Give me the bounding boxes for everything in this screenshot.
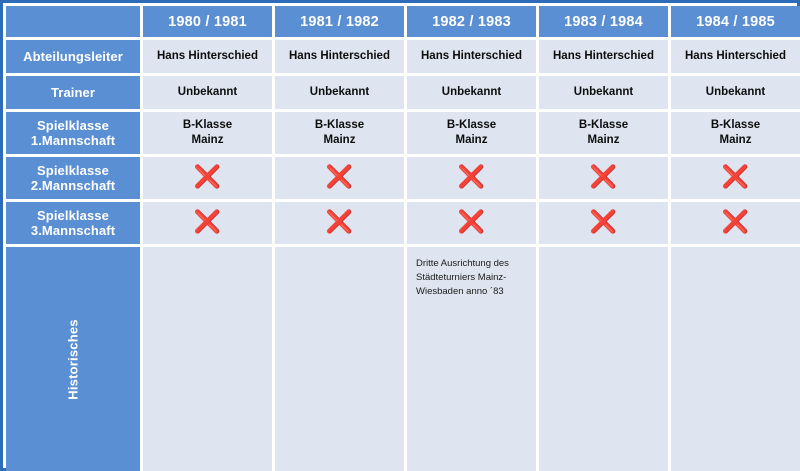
table-cell-spielklasse1-4: B-Klasse Mainz (539, 112, 668, 154)
cross-mark-icon: ❌ (326, 167, 353, 189)
row-header-line2: 2.Mannschaft (31, 178, 115, 193)
cell-line2: Mainz (315, 133, 364, 148)
cross-mark-icon: ❌ (590, 167, 617, 189)
table-cell-historisches-2 (275, 247, 404, 471)
row-header-line1: Spielklasse (31, 163, 115, 178)
table-cell-spielklasse3-5: ❌ (671, 202, 800, 244)
table-cell-spielklasse3-3: ❌ (407, 202, 536, 244)
table-cell-spielklasse2-5: ❌ (671, 157, 800, 199)
row-header-line2: 3.Mannschaft (31, 223, 115, 238)
cross-mark-icon: ❌ (194, 212, 221, 234)
table-cell-spielklasse2-1: ❌ (143, 157, 272, 199)
cross-mark-icon: ❌ (722, 212, 749, 234)
table-cell-spielklasse1-2: B-Klasse Mainz (275, 112, 404, 154)
cell-line2: Mainz (447, 133, 496, 148)
cell-line2: Mainz (711, 133, 760, 148)
table-cell-historisches-1 (143, 247, 272, 471)
column-header-season-5: 1984 / 1985 (671, 6, 800, 37)
cross-mark-icon: ❌ (326, 212, 353, 234)
cross-mark-icon: ❌ (590, 212, 617, 234)
table-cell-historisches-4 (539, 247, 668, 471)
table-cell-spielklasse1-3: B-Klasse Mainz (407, 112, 536, 154)
row-header-abteilungsleiter: Abteilungsleiter (6, 40, 140, 73)
table-cell-abteilungsleiter-2: Hans Hinterschied (275, 40, 404, 73)
table-cell-trainer-1: Unbekannt (143, 76, 272, 109)
table-cell-abteilungsleiter-3: Hans Hinterschied (407, 40, 536, 73)
cell-line1: B-Klasse (315, 118, 364, 133)
table-cell-trainer-3: Unbekannt (407, 76, 536, 109)
season-overview-table: 1980 / 1981 1981 / 1982 1982 / 1983 1983… (0, 0, 800, 471)
table-cell-spielklasse3-1: ❌ (143, 202, 272, 244)
cross-mark-icon: ❌ (458, 167, 485, 189)
history-note: Dritte Ausrichtung des Städteturniers Ma… (416, 257, 527, 298)
table-cell-trainer-5: Unbekannt (671, 76, 800, 109)
cell-line1: B-Klasse (579, 118, 628, 133)
historisches-label: Historisches (66, 319, 81, 399)
column-header-season-4: 1983 / 1984 (539, 6, 668, 37)
table-cell-abteilungsleiter-5: Hans Hinterschied (671, 40, 800, 73)
cross-mark-icon: ❌ (458, 212, 485, 234)
cell-line1: B-Klasse (447, 118, 496, 133)
table-grid: 1980 / 1981 1981 / 1982 1982 / 1983 1983… (6, 6, 800, 471)
cell-line1: B-Klasse (711, 118, 760, 133)
table-cell-abteilungsleiter-1: Hans Hinterschied (143, 40, 272, 73)
row-header-spielklasse-1-mannschaft: Spielklasse 1.Mannschaft (6, 112, 140, 154)
table-cell-trainer-4: Unbekannt (539, 76, 668, 109)
row-header-line2: 1.Mannschaft (31, 133, 115, 148)
table-cell-spielklasse1-1: B-Klasse Mainz (143, 112, 272, 154)
table-cell-historisches-5 (671, 247, 800, 471)
table-cell-spielklasse2-2: ❌ (275, 157, 404, 199)
column-header-season-3: 1982 / 1983 (407, 6, 536, 37)
row-header-line1: Spielklasse (31, 118, 115, 133)
table-corner-cell (6, 6, 140, 37)
table-cell-spielklasse3-2: ❌ (275, 202, 404, 244)
table-cell-abteilungsleiter-4: Hans Hinterschied (539, 40, 668, 73)
cell-line2: Mainz (579, 133, 628, 148)
row-header-spielklasse-2-mannschaft: Spielklasse 2.Mannschaft (6, 157, 140, 199)
cell-line2: Mainz (183, 133, 232, 148)
row-header-trainer: Trainer (6, 76, 140, 109)
table-cell-spielklasse2-4: ❌ (539, 157, 668, 199)
column-header-season-2: 1981 / 1982 (275, 6, 404, 37)
cross-mark-icon: ❌ (722, 167, 749, 189)
table-cell-spielklasse2-3: ❌ (407, 157, 536, 199)
column-header-season-1: 1980 / 1981 (143, 6, 272, 37)
table-cell-historisches-3: Dritte Ausrichtung des Städteturniers Ma… (407, 247, 536, 471)
table-cell-spielklasse1-5: B-Klasse Mainz (671, 112, 800, 154)
cell-line1: B-Klasse (183, 118, 232, 133)
cross-mark-icon: ❌ (194, 167, 221, 189)
table-cell-spielklasse3-4: ❌ (539, 202, 668, 244)
row-header-spielklasse-3-mannschaft: Spielklasse 3.Mannschaft (6, 202, 140, 244)
row-header-line1: Spielklasse (31, 208, 115, 223)
table-cell-trainer-2: Unbekannt (275, 76, 404, 109)
row-header-historisches: Historisches (6, 247, 140, 471)
